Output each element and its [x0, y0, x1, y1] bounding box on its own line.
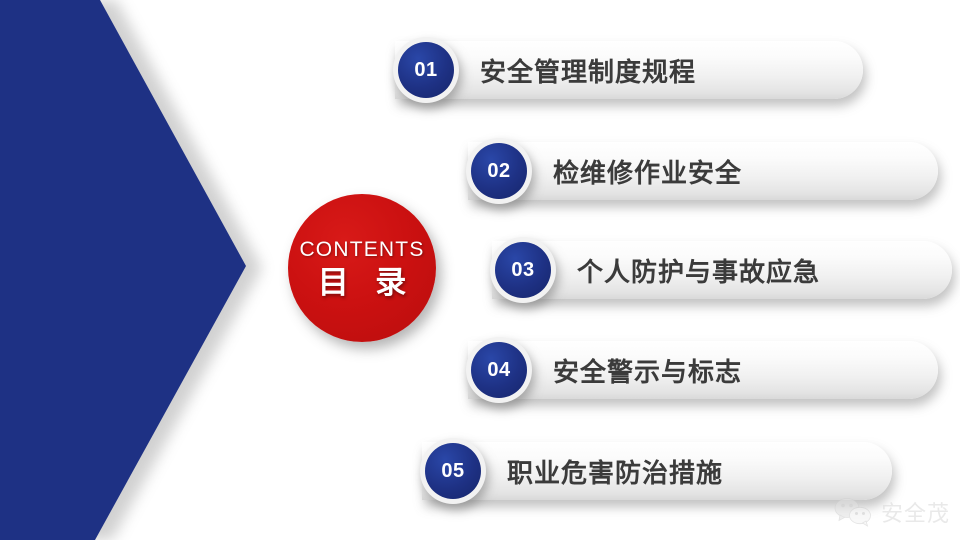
contents-english-label: CONTENTS: [299, 239, 424, 260]
agenda-number-badge-inner-01: 01: [398, 42, 454, 98]
agenda-number-03: 03: [511, 260, 534, 280]
agenda-label-03: 个人防护与事故应急: [577, 241, 820, 299]
agenda-list: 01 安全管理制度规程 02 检维修作业安全 03 个人防护与事故应急: [0, 0, 960, 540]
agenda-number-badge-03: 03: [490, 237, 556, 303]
agenda-label-01: 安全管理制度规程: [480, 41, 696, 99]
agenda-number-badge-inner-03: 03: [495, 242, 551, 298]
agenda-item-03[interactable]: 03 个人防护与事故应急: [492, 241, 952, 299]
agenda-item-04[interactable]: 04 安全警示与标志: [468, 341, 938, 399]
agenda-number-badge-02: 02: [466, 138, 532, 204]
wechat-icon: [833, 496, 873, 528]
agenda-number-badge-inner-02: 02: [471, 143, 527, 199]
agenda-number-04: 04: [487, 360, 510, 380]
agenda-number-02: 02: [487, 161, 510, 181]
contents-circle: CONTENTS 目 录: [288, 194, 436, 342]
agenda-number-badge-04: 04: [466, 337, 532, 403]
agenda-number-01: 01: [414, 60, 437, 80]
agenda-label-02: 检维修作业安全: [553, 142, 742, 200]
agenda-number-05: 05: [441, 461, 464, 481]
agenda-number-badge-05: 05: [420, 438, 486, 504]
agenda-number-badge-inner-04: 04: [471, 342, 527, 398]
agenda-item-01[interactable]: 01 安全管理制度规程: [395, 41, 863, 99]
agenda-label-04: 安全警示与标志: [553, 341, 742, 399]
agenda-label-05: 职业危害防治措施: [507, 442, 723, 500]
agenda-number-badge-inner-05: 05: [425, 443, 481, 499]
watermark-text: 安全茂: [881, 496, 950, 528]
agenda-item-05[interactable]: 05 职业危害防治措施: [422, 442, 892, 500]
watermark: 安全茂: [833, 496, 950, 528]
slide-canvas: CONTENTS 目 录 01 安全管理制度规程 02 检维修作业安全: [0, 0, 960, 540]
agenda-item-02[interactable]: 02 检维修作业安全: [468, 142, 938, 200]
contents-chinese-label: 目 录: [309, 267, 416, 298]
agenda-number-badge-01: 01: [393, 37, 459, 103]
